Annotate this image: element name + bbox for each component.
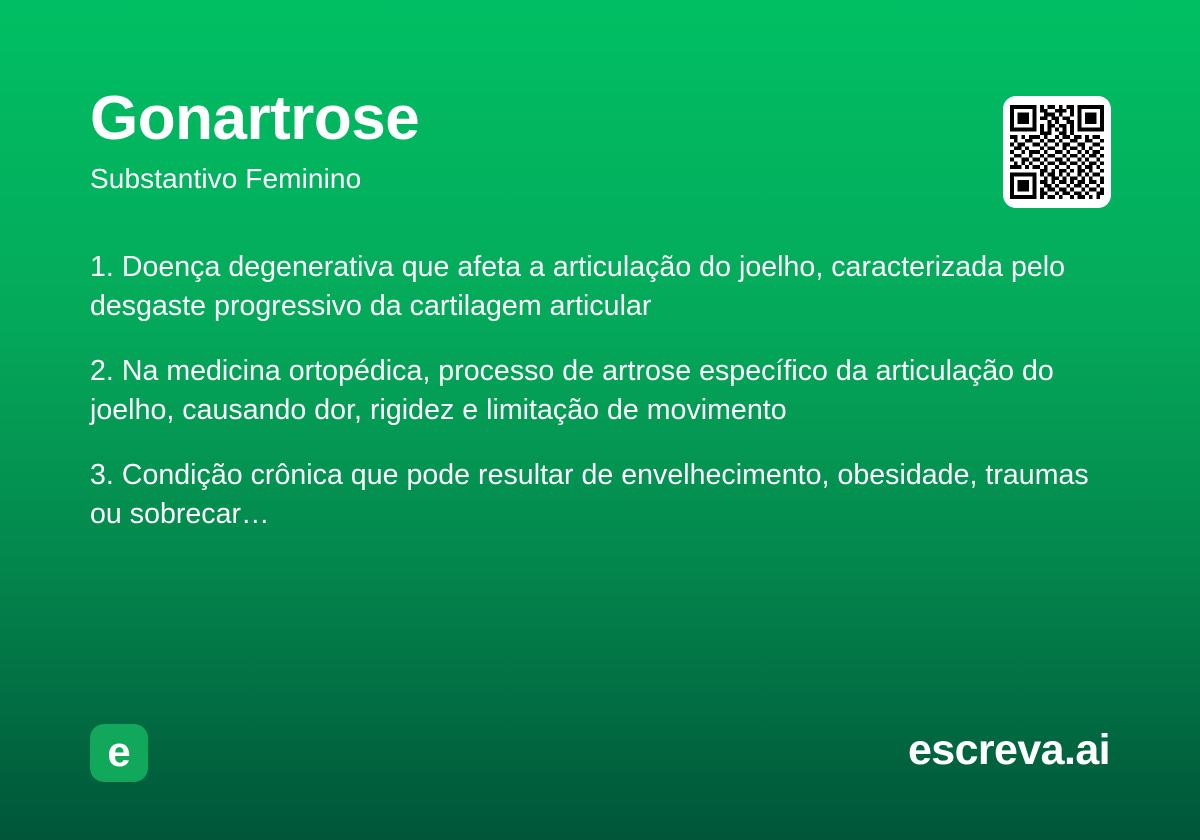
definition-item: 2. Na medicina ortopédica, processo de a… xyxy=(90,352,1090,430)
brand-wordmark: escreva.ai xyxy=(908,726,1110,775)
brand-logo-tile[interactable]: e xyxy=(90,724,148,782)
definitions-list: 1. Doença degenerativa que afeta a artic… xyxy=(90,248,1090,534)
brand-logo-letter: e xyxy=(107,731,130,773)
definition-item: 3. Condição crônica que pode resultar de… xyxy=(90,456,1090,534)
qr-code-icon xyxy=(1010,103,1104,201)
definition-item: 1. Doença degenerativa que afeta a artic… xyxy=(90,248,1090,326)
qr-code-panel[interactable] xyxy=(1003,96,1111,208)
dictionary-card: Gonartrose Substantivo Feminino 1. Doenç… xyxy=(0,0,1200,840)
page-title: Gonartrose xyxy=(90,88,1110,150)
part-of-speech-label: Substantivo Feminino xyxy=(90,164,1110,195)
card-header: Gonartrose Substantivo Feminino xyxy=(90,88,1110,195)
